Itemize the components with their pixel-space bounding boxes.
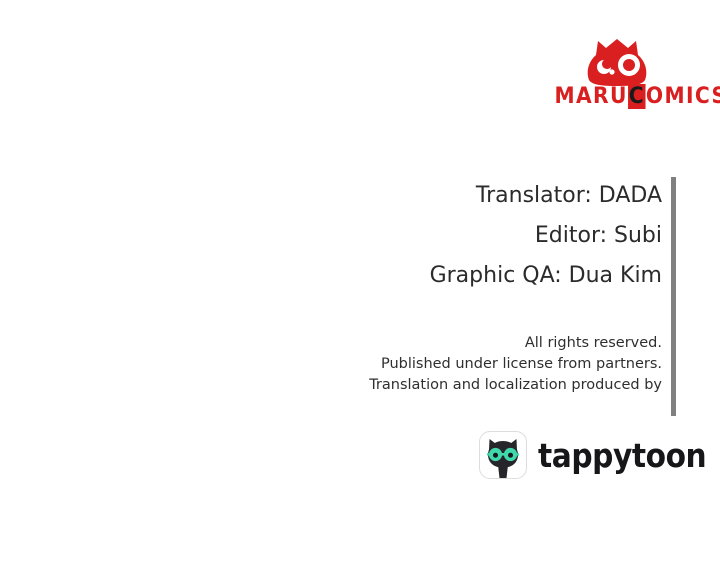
rights-line-published: Published under license from partners. [250, 354, 662, 375]
credit-line-translator: Translator: DADA [250, 176, 662, 216]
wordmark-part-maru: MARU [554, 84, 627, 109]
tappytoon-wordmark: tappytoon [538, 439, 706, 472]
tappytoon-cat-icon [479, 431, 527, 479]
credit-line-editor: Editor: Subi [250, 216, 662, 256]
maru-comics-wordmark: MARUCOMICS [554, 84, 679, 110]
rights-line-translation: Translation and localization produced by [250, 375, 662, 396]
credit-line-graphic-qa: Graphic QA: Dua Kim [250, 256, 662, 296]
tappytoon-logo: tappytoon [479, 430, 720, 480]
maru-cat-head-icon [576, 38, 658, 86]
vertical-accent-rule [671, 177, 676, 416]
rights-line-all-rights: All rights reserved. [250, 333, 662, 354]
maru-comics-logo: MARUCOMICS [549, 38, 685, 114]
wordmark-part-c: C [628, 84, 646, 109]
rights-block: All rights reserved. Published under lic… [250, 333, 662, 396]
credits-block: Translator: DADA Editor: Subi Graphic QA… [250, 176, 662, 296]
wordmark-part-omics: OMICS [646, 84, 720, 109]
